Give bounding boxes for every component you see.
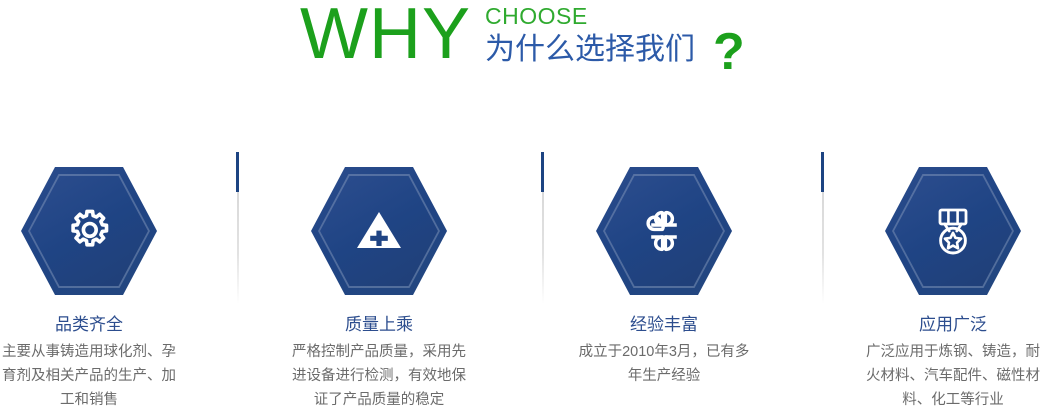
medal-icon	[885, 167, 1021, 295]
card-description: 成立于2010年3月，已有多年生产经验	[566, 340, 762, 388]
feature-card-1[interactable]: 品类齐全 主要从事铸造用球化剂、孕育剂及相关产品的生产、加工和销售	[0, 150, 187, 412]
feature-cards-row: 品类齐全 主要从事铸造用球化剂、孕育剂及相关产品的生产、加工和销售 质量上乘 严…	[0, 150, 1055, 416]
divider-2	[541, 150, 544, 305]
heading-choose-text: CHOOSE	[485, 4, 695, 29]
feature-card-2[interactable]: 质量上乘 严格控制产品质量，采用先进设备进行检测，有效地保证了产品质量的稳定	[281, 150, 477, 412]
heading-chinese-subtitle: 为什么选择我们	[485, 32, 695, 68]
card-title: 品类齐全	[0, 314, 187, 336]
card-title: 经验丰富	[566, 314, 762, 336]
feature-card-4[interactable]: 应用广泛 广泛应用于炼钢、铸造，耐火材料、汽车配件、磁性材料、化工等行业	[855, 150, 1051, 412]
divider-1	[236, 150, 239, 305]
section-heading: WHY CHOOSE 为什么选择我们 ?	[0, 0, 1055, 100]
hexagon-badge-4	[885, 167, 1021, 295]
heading-question-mark: ?	[713, 26, 745, 78]
divider-top-segment	[236, 152, 239, 192]
feature-card-3[interactable]: 经验丰富 成立于2010年3月，已有多年生产经验	[566, 150, 762, 388]
heading-middle-block: CHOOSE 为什么选择我们	[485, 4, 695, 68]
gear-icon	[21, 167, 157, 295]
card-title: 应用广泛	[855, 314, 1051, 336]
divider-top-segment	[821, 152, 824, 192]
divider-top-segment	[541, 152, 544, 192]
hexagon-badge-2	[311, 167, 447, 295]
heading-inner: WHY CHOOSE 为什么选择我们 ?	[300, 0, 745, 78]
divider-tail-segment	[542, 192, 544, 304]
divider-3	[821, 150, 824, 305]
hexagon-badge-3	[596, 167, 732, 295]
four-petal-clover-icon	[596, 167, 732, 295]
card-description: 广泛应用于炼钢、铸造，耐火材料、汽车配件、磁性材料、化工等行业	[855, 340, 1051, 412]
divider-tail-segment	[237, 192, 239, 304]
divider-tail-segment	[822, 192, 824, 304]
heading-why-text: WHY	[300, 0, 471, 70]
card-description: 主要从事铸造用球化剂、孕育剂及相关产品的生产、加工和销售	[0, 340, 187, 412]
hexagon-badge-1	[21, 167, 157, 295]
card-description: 严格控制产品质量，采用先进设备进行检测，有效地保证了产品质量的稳定	[281, 340, 477, 412]
card-title: 质量上乘	[281, 314, 477, 336]
triangle-plus-icon	[311, 167, 447, 295]
